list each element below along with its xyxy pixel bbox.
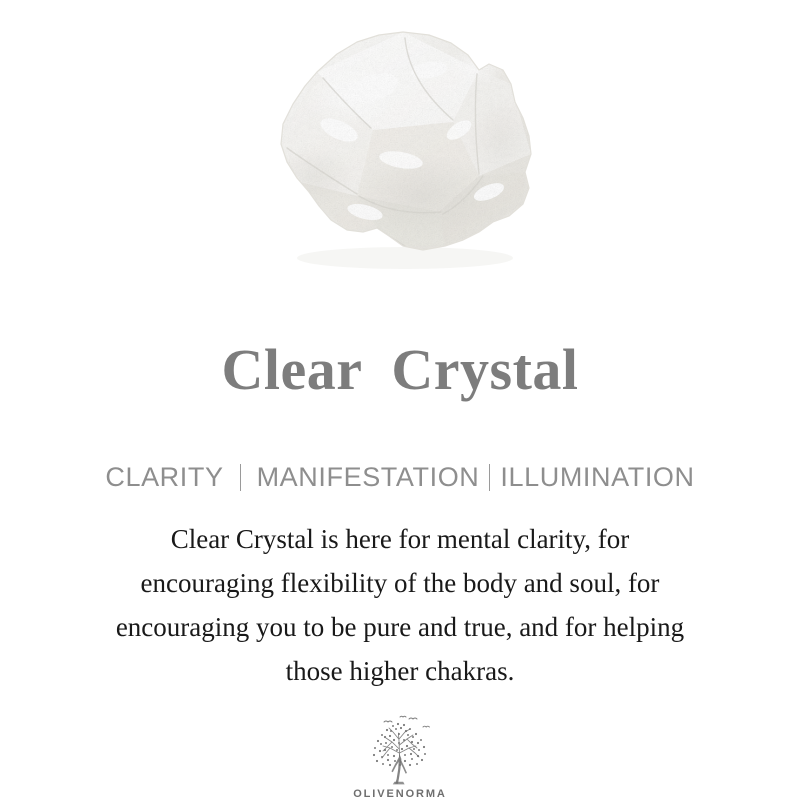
raw-crystal-illustration: [253, 26, 553, 288]
product-description: Clear Crystal is here for mental clarity…: [40, 517, 760, 693]
product-image-area: [0, 0, 800, 297]
keyword-separator-icon: [489, 464, 490, 491]
description-line: Clear Crystal is here for mental clarity…: [40, 517, 760, 561]
keyword-clarity: CLARITY: [105, 464, 223, 491]
keyword-separator-icon: [240, 464, 241, 491]
brand-wordmark: OLIVENORMA: [353, 789, 447, 800]
description-line: those higher chakras.: [40, 649, 760, 693]
keyword-illumination: ILLUMINATION: [500, 464, 694, 491]
product-info-card: Clear Crystal CLARITY MANIFESTATION ILLU…: [0, 0, 800, 800]
description-line: encouraging you to be pure and true, and…: [40, 605, 760, 649]
page-title: Clear Crystal: [221, 341, 578, 399]
keyword-list: CLARITY MANIFESTATION ILLUMINATION: [105, 464, 694, 491]
keyword-manifestation: MANIFESTATION: [257, 464, 480, 491]
brand-logo: OLIVENORMA: [353, 715, 447, 800]
olive-tree-icon: [354, 715, 446, 787]
description-line: encouraging flexibility of the body and …: [40, 561, 760, 605]
crystal-image: [253, 26, 553, 288]
